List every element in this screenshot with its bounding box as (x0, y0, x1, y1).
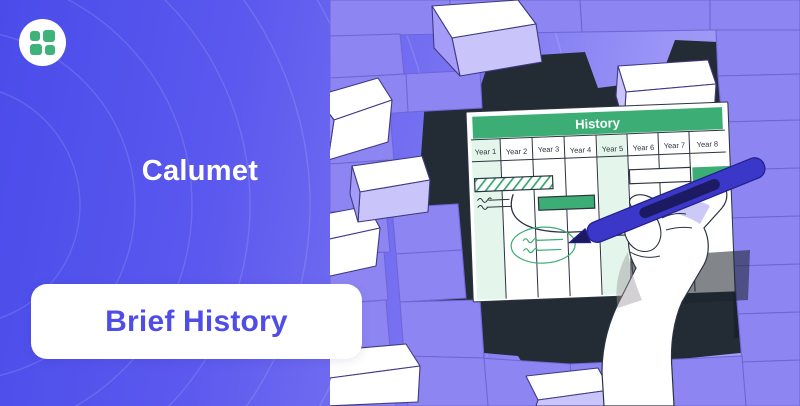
brick (432, 0, 542, 76)
bar-solid (538, 195, 594, 210)
column-header: Year 3 (538, 144, 560, 154)
poster-canvas: History (0, 0, 800, 406)
title-card[interactable]: Brief History (31, 284, 362, 359)
column-header: Year 6 (633, 143, 655, 153)
logo-badge[interactable] (19, 19, 66, 66)
title-card-label: Brief History (105, 305, 288, 339)
logo-square-bottom-left (30, 44, 42, 55)
column-header: Year 8 (697, 139, 719, 149)
column-header: Year 4 (570, 145, 592, 155)
column-header: Year 5 (602, 144, 624, 154)
logo-square-bottom-right (45, 45, 55, 55)
column-header: Year 2 (506, 147, 528, 157)
hero-panel: Calumet Brief History (0, 0, 400, 406)
logo-square-top-right (43, 30, 55, 42)
bar-hatched (475, 176, 553, 192)
illustration: History (330, 0, 800, 406)
bar-outline (629, 167, 690, 183)
column-header: Year 1 (475, 147, 497, 157)
logo-square-top-left (30, 31, 40, 41)
column-header: Year 7 (664, 141, 686, 151)
four-squares-grid-icon (30, 30, 55, 55)
brand-name: Calumet (0, 155, 400, 188)
table-banner-title: History (575, 115, 621, 132)
